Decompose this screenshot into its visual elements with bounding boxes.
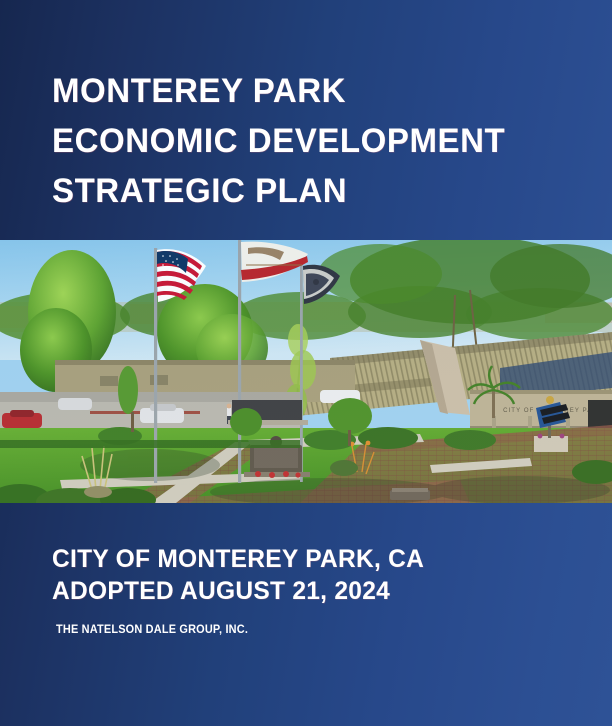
footer-line-city: CITY OF MONTEREY PARK, CA <box>52 543 581 575</box>
page-title-line-2: ECONOMIC DEVELOPMENT <box>52 116 566 166</box>
cover-footer-block: CITY OF MONTEREY PARK, CA ADOPTED AUGUST… <box>52 543 592 636</box>
footer-line-adopted-date: ADOPTED AUGUST 21, 2024 <box>52 575 581 607</box>
cover-title-block: MONTEREY PARK ECONOMIC DEVELOPMENT STRAT… <box>52 66 582 216</box>
cover-photograph: CITY OF MONTEREY PARK <box>0 240 612 503</box>
page-title-line-1: MONTEREY PARK <box>52 66 566 116</box>
consultant-credit: THE NATELSON DALE GROUP, INC. <box>56 624 565 636</box>
report-cover-page: MONTEREY PARK ECONOMIC DEVELOPMENT STRAT… <box>0 0 612 726</box>
page-title-line-3: STRATEGIC PLAN <box>52 166 566 216</box>
city-hall-photo-illustration: CITY OF MONTEREY PARK <box>0 240 612 503</box>
